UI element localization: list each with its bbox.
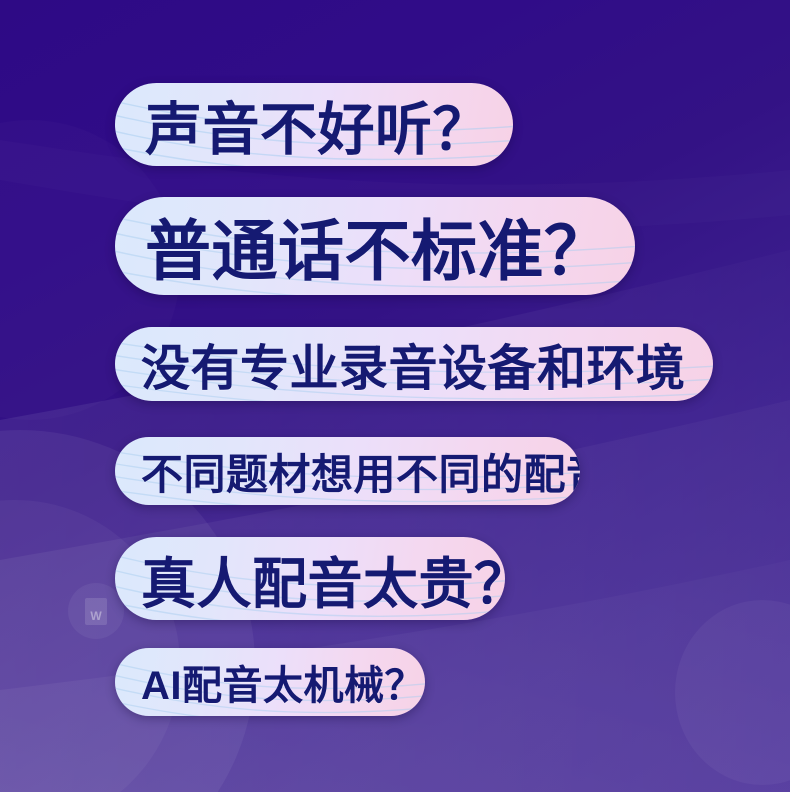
pill-label: 普通话不标准？	[145, 198, 611, 294]
question-pill-stack: 声音不好听？ 普通话不标准？	[0, 0, 790, 792]
pill-voice-not-good: 声音不好听？	[115, 83, 513, 166]
pill-label: 声音不好听？	[145, 84, 490, 166]
pill-ai-dubbing-robotic: AI配音太机械？	[115, 648, 425, 716]
poster-canvas: 声音不好听？ 普通话不标准？	[0, 0, 790, 792]
pill-label: 没有专业录音设备和环境	[141, 329, 686, 400]
pill-label: AI配音太机械？	[141, 653, 425, 711]
pill-label: 真人配音太贵？	[141, 539, 505, 619]
pill-human-dubbing-expensive: 真人配音太贵？	[115, 537, 505, 620]
pill-no-pro-equipment: 没有专业录音设备和环境	[115, 327, 713, 401]
pill-label: 不同题材想用不同的配音？	[141, 441, 580, 502]
pill-mandarin-nonstandard: 普通话不标准？	[115, 197, 635, 295]
pill-different-topics: 不同题材想用不同的配音？	[115, 437, 580, 505]
